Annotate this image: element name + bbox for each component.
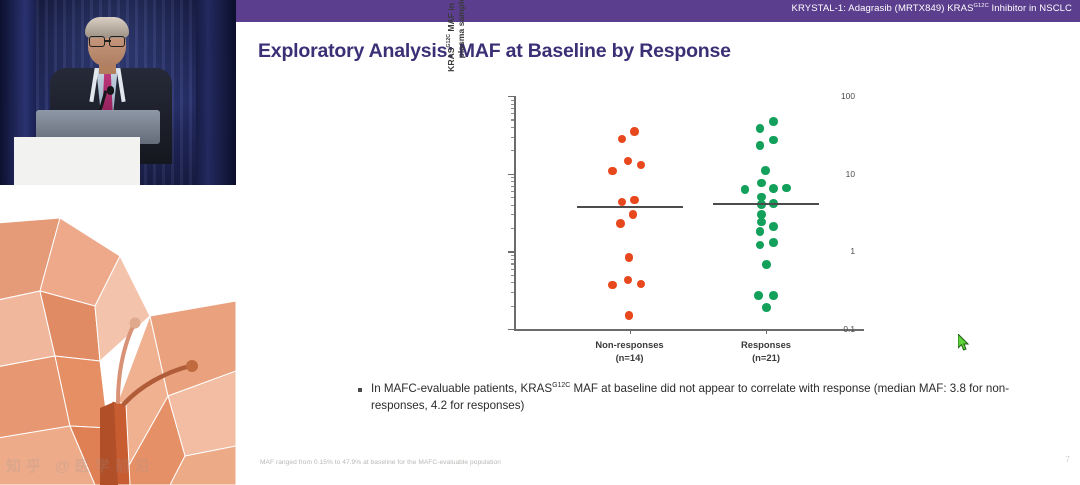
scatter-point [757,218,766,227]
scatter-point [624,157,633,166]
banner-superscript: G12C [974,3,989,9]
bullet-text-pre: In MAFC-evaluable patients, KRAS [371,382,552,395]
list-item: In MAFC-evaluable patients, KRASG12C MAF… [358,381,1058,414]
y-tick-major [508,96,514,97]
banner-text-post: Inhibitor in NSCLC [989,3,1072,14]
curtain-right [196,0,236,185]
y-tick-minor [511,306,515,307]
microphone-icon [107,86,114,95]
x-axis-category-label: Non-responses(n=14) [560,339,700,364]
page-title: Exploratory Analysis: MAF at Baseline by… [258,40,731,63]
y-tick-minor [511,275,515,276]
mouse-cursor-icon [958,334,971,352]
scatter-point [769,136,778,145]
scatter-point [756,227,765,236]
y-tick-minor [511,197,515,198]
scatter-point [608,167,617,176]
maf-scatter-chart: KRASG12C MAF in baseline plasma samples,… [454,88,864,353]
category-name: Responses [696,339,836,352]
y-tick-minor [511,100,515,101]
y-tick-minor [511,137,515,138]
y-tick-minor [511,263,515,264]
category-name: Non-responses [560,339,700,352]
low-poly-butterfly-icon [0,196,236,485]
slide-header-bar: KRYSTAL-1: Adagrasib (MRTX849) KRASG12C … [236,0,1080,22]
y-tick-label: 10 [846,169,855,179]
bullet-square-icon [358,388,362,392]
bullet-list: In MAFC-evaluable patients, KRASG12C MAF… [358,381,1058,414]
page-number: 7 [1066,455,1070,464]
y-tick-minor [511,181,515,182]
scatter-point [757,179,766,188]
scatter-point [769,222,778,231]
y-tick-minor [511,214,515,215]
scatter-point [616,219,625,228]
y-tick-label: 0.1 [843,324,855,334]
y-tick-minor [511,150,515,151]
y-tick-minor [511,127,515,128]
podium-front [14,137,140,185]
scatter-point [741,185,750,194]
bullet-superscript: G12C [552,382,570,389]
category-count: (n=21) [696,352,836,365]
bullet-text: In MAFC-evaluable patients, KRASG12C MAF… [371,381,1058,414]
x-axis-category-label: Responses(n=21) [696,339,836,364]
eyeglasses-icon [88,36,126,45]
y-axis-label: KRASG12C MAF in baseline plasma samples,… [446,0,462,114]
scatter-point [769,117,778,126]
y-tick-minor [511,191,515,192]
scatter-point [756,241,765,250]
category-count: (n=14) [560,352,700,365]
y-tick-minor [511,186,515,187]
presentation-slide: KRYSTAL-1: Adagrasib (MRTX849) KRASG12C … [236,0,1080,485]
scatter-point [782,184,791,193]
y-axis-label-line2: plasma samples, % [456,0,466,114]
y-tick-major [508,251,514,252]
y-tick-minor [511,269,515,270]
plot-area: 1001010.1 Non-responses(n=14)Responses(n… [514,96,864,338]
scatter-point [629,210,638,219]
scatter-point [630,127,639,136]
scatter-point [637,161,646,170]
scatter-point [624,276,633,285]
banner-text-pre: KRYSTAL-1: Adagrasib (MRTX849) KRAS [792,3,974,14]
scatter-point [618,198,627,207]
y-tick-label: 100 [841,91,855,101]
watermark: 知乎 @医学前沿 [6,455,155,476]
y-tick-minor [511,282,515,283]
y-tick-minor [511,177,515,178]
scatter-point [756,124,765,133]
scatter-point [761,166,770,175]
scatter-point [608,281,617,290]
y-tick-minor [511,259,515,260]
scatter-point [625,311,634,320]
scatter-point [618,135,627,144]
y-tick-minor [511,104,515,105]
y-tick-minor [511,292,515,293]
scatter-point [625,253,634,262]
y-tick-minor [511,255,515,256]
y-axis-line [514,96,516,330]
scatter-point [754,291,763,300]
scatter-point [630,196,639,205]
scatter-point [756,141,765,150]
speaker-video-panel[interactable] [0,0,236,185]
scatter-point [762,260,771,269]
scatter-point [769,184,778,193]
butterfly-decoration [0,196,236,485]
y-tick-major [508,174,514,175]
median-line [713,203,819,205]
y-tick-label: 1 [850,246,855,256]
scatter-point [762,303,771,312]
y-axis-label-line1: KRASG12C MAF in baseline [446,0,456,114]
speaker-hair [85,17,129,38]
screenshot-root: KRYSTAL-1: Adagrasib (MRTX849) KRASG12C … [0,0,1080,485]
y-tick-minor [511,113,515,114]
y-tick-major [508,329,514,330]
slide-footnote: MAF ranged from 0.15% to 47.9% at baseli… [260,459,501,466]
x-tick [766,329,767,334]
median-line [577,206,683,208]
x-axis-line [514,329,864,331]
y-tick-minor [511,108,515,109]
scatter-point [769,291,778,300]
y-tick-minor [511,119,515,120]
x-tick [630,329,631,334]
y-tick-minor [511,205,515,206]
scatter-point [769,238,778,247]
scatter-point [637,280,646,289]
y-tick-minor [511,228,515,229]
study-banner-text: KRYSTAL-1: Adagrasib (MRTX849) KRASG12C … [792,3,1072,14]
